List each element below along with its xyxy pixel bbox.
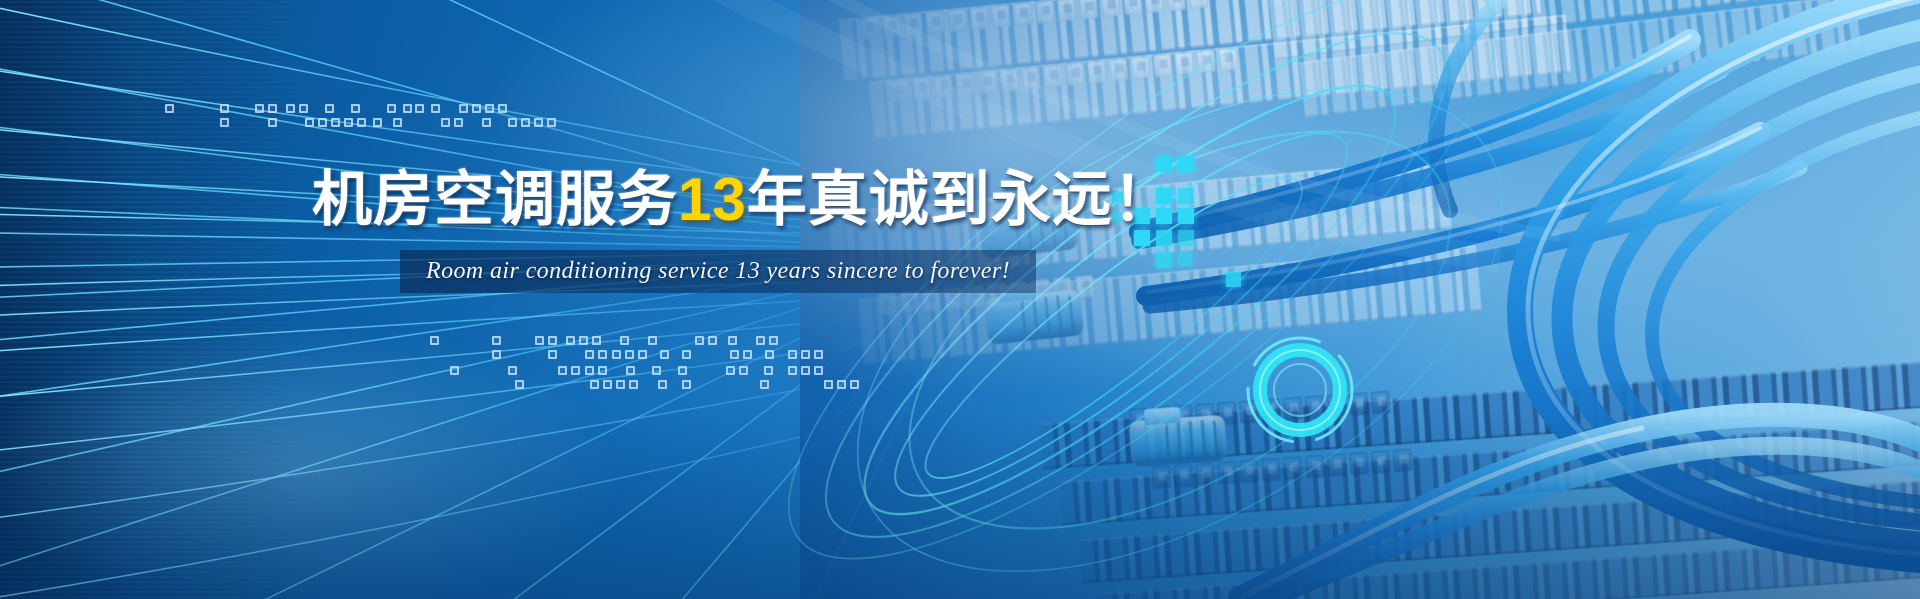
headline-suffix: 年真诚到永远！ [747,166,1174,233]
glowing-ring-icon [1240,330,1360,455]
banner-subtitle: Room air conditioning service 13 years s… [426,258,1010,285]
light-swirl-ribbons [0,0,1920,599]
promotional-banner: 机房空调服务13年真诚到永远！ Room air conditioning se… [0,0,1920,599]
headline-accent-years: 13 [678,166,747,233]
headline-prefix: 机房空调服务 [312,166,678,233]
digital-code-pattern-top [165,104,565,134]
banner-headline: 机房空调服务13年真诚到永远！ [312,170,1174,230]
digital-code-pattern-bottom [430,336,900,390]
banner-subtitle-bar: Room air conditioning service 13 years s… [400,250,1036,293]
